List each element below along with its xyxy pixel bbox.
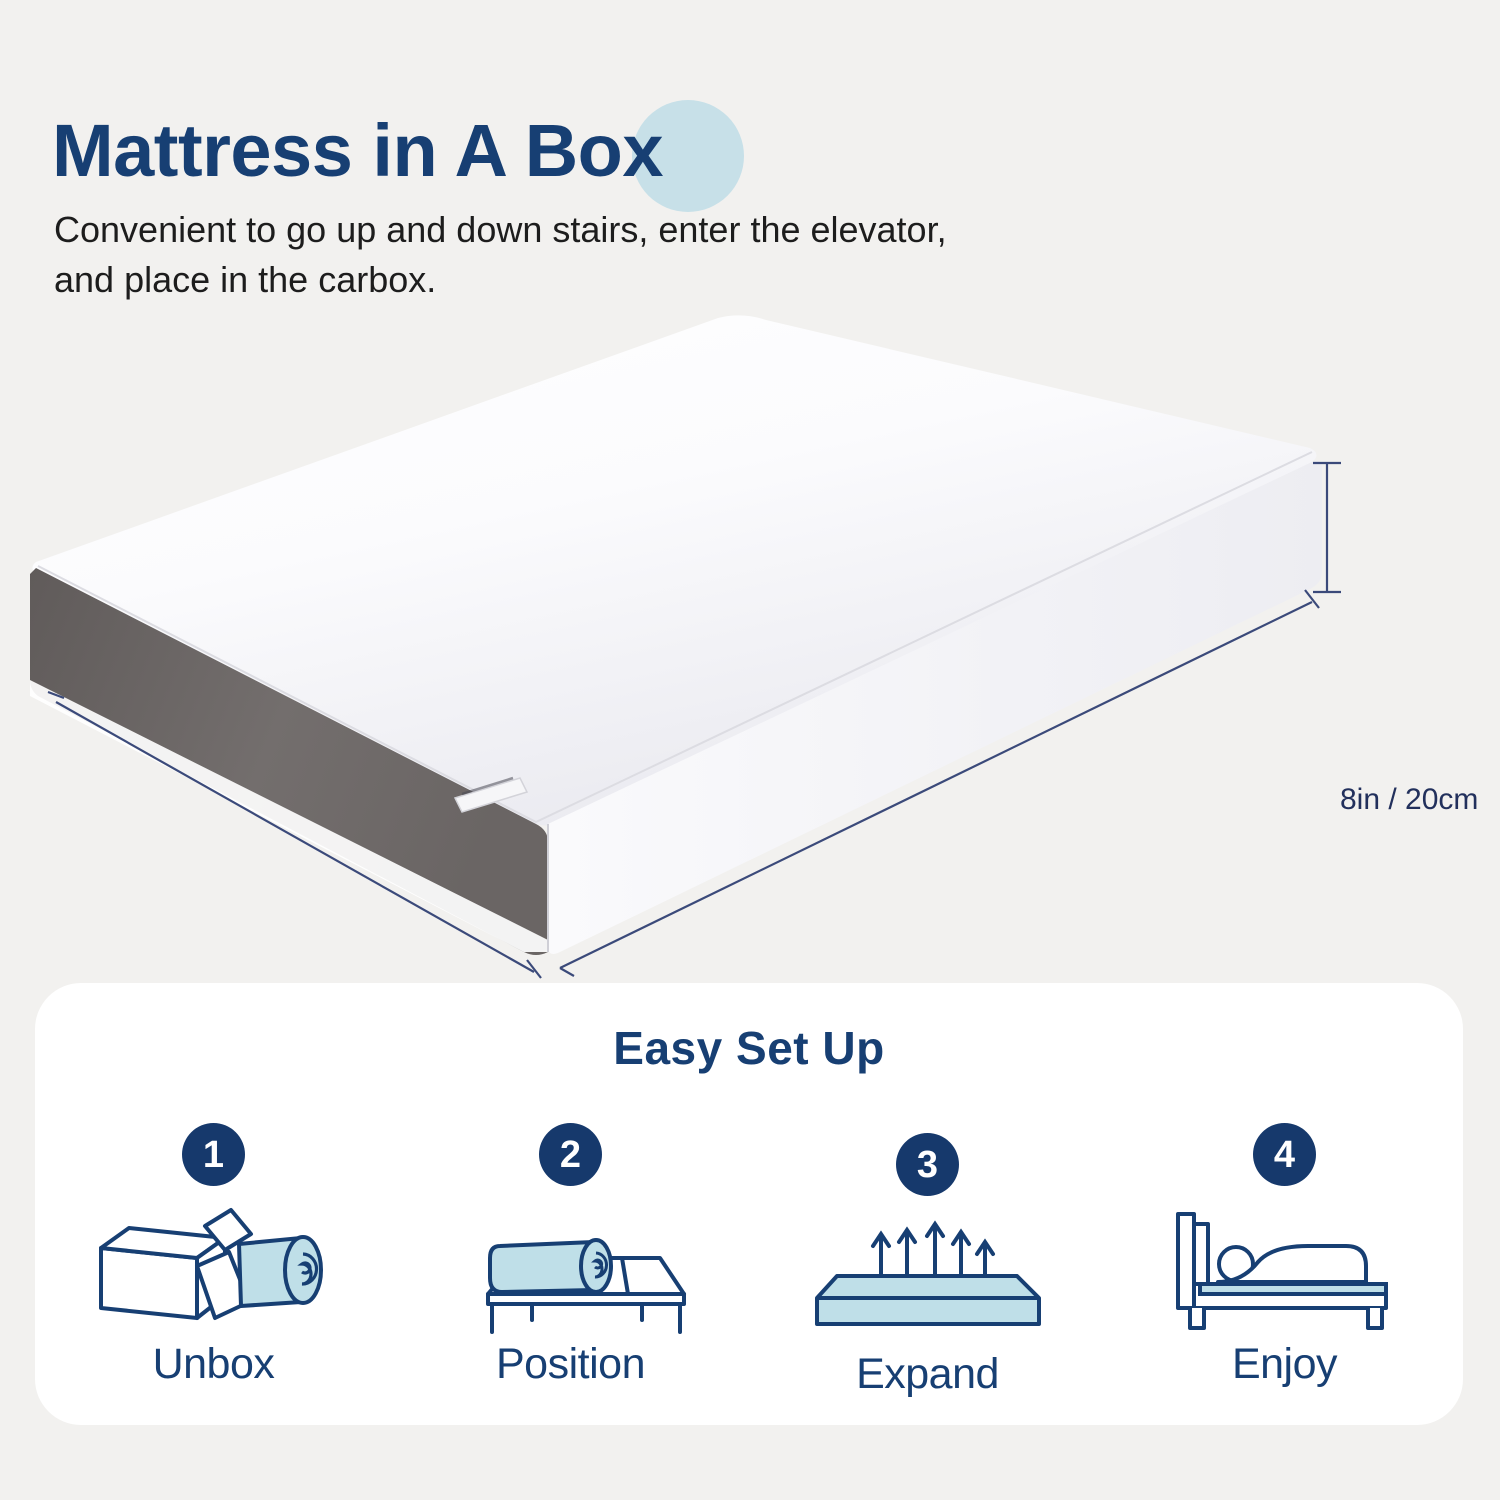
sleeping-person	[1218, 1246, 1366, 1282]
step-label-expand: Expand	[856, 1350, 999, 1399]
setup-steps-row: 1	[35, 1123, 1463, 1399]
step-number-badge-4: 4	[1253, 1123, 1316, 1186]
step-label-unbox: Unbox	[153, 1340, 275, 1389]
rolled-mattress	[239, 1237, 321, 1306]
position-art	[446, 1196, 696, 1336]
page-title-wrap: Mattress in A Box	[52, 98, 663, 203]
step-label-enjoy: Enjoy	[1232, 1340, 1337, 1389]
rolled-mattress-on-bed-frame-icon	[446, 1196, 696, 1336]
easy-setup-card: Easy Set Up 1	[35, 983, 1463, 1425]
page-subtitle: Convenient to go up and down stairs, ent…	[54, 205, 947, 305]
bed-mattress-strip	[1200, 1284, 1386, 1294]
setup-step-enjoy: 4	[1135, 1123, 1435, 1389]
page-title: Mattress in A Box	[52, 98, 663, 203]
step-number-badge-3: 3	[896, 1133, 959, 1196]
mattress-hero: 8in / 20cm 75in / 191cm 54in / 137cm	[0, 300, 1500, 990]
step-number-badge-2: 2	[539, 1123, 602, 1186]
box-with-rolled-mattress-icon	[89, 1196, 339, 1336]
unbox-art	[89, 1196, 339, 1336]
person-sleeping-in-bed-icon	[1160, 1196, 1410, 1336]
setup-step-unbox: 1	[64, 1123, 364, 1389]
mattress-expanding-arrows-icon	[803, 1206, 1053, 1346]
setup-step-expand: 3	[778, 1123, 1078, 1399]
dimension-label-height: 8in / 20cm	[1340, 783, 1478, 817]
enjoy-art	[1160, 1196, 1410, 1336]
mattress-illustration	[0, 300, 1500, 990]
infographic-root: Mattress in A Box Convenient to go up an…	[0, 0, 1500, 1500]
step-number-badge-1: 1	[182, 1123, 245, 1186]
setup-step-position: 2	[421, 1123, 721, 1389]
step-label-position: Position	[496, 1340, 645, 1389]
expand-art	[803, 1206, 1053, 1346]
easy-setup-title: Easy Set Up	[35, 1021, 1463, 1075]
mattress-slab	[817, 1276, 1039, 1324]
rolled-mattress	[490, 1240, 611, 1292]
